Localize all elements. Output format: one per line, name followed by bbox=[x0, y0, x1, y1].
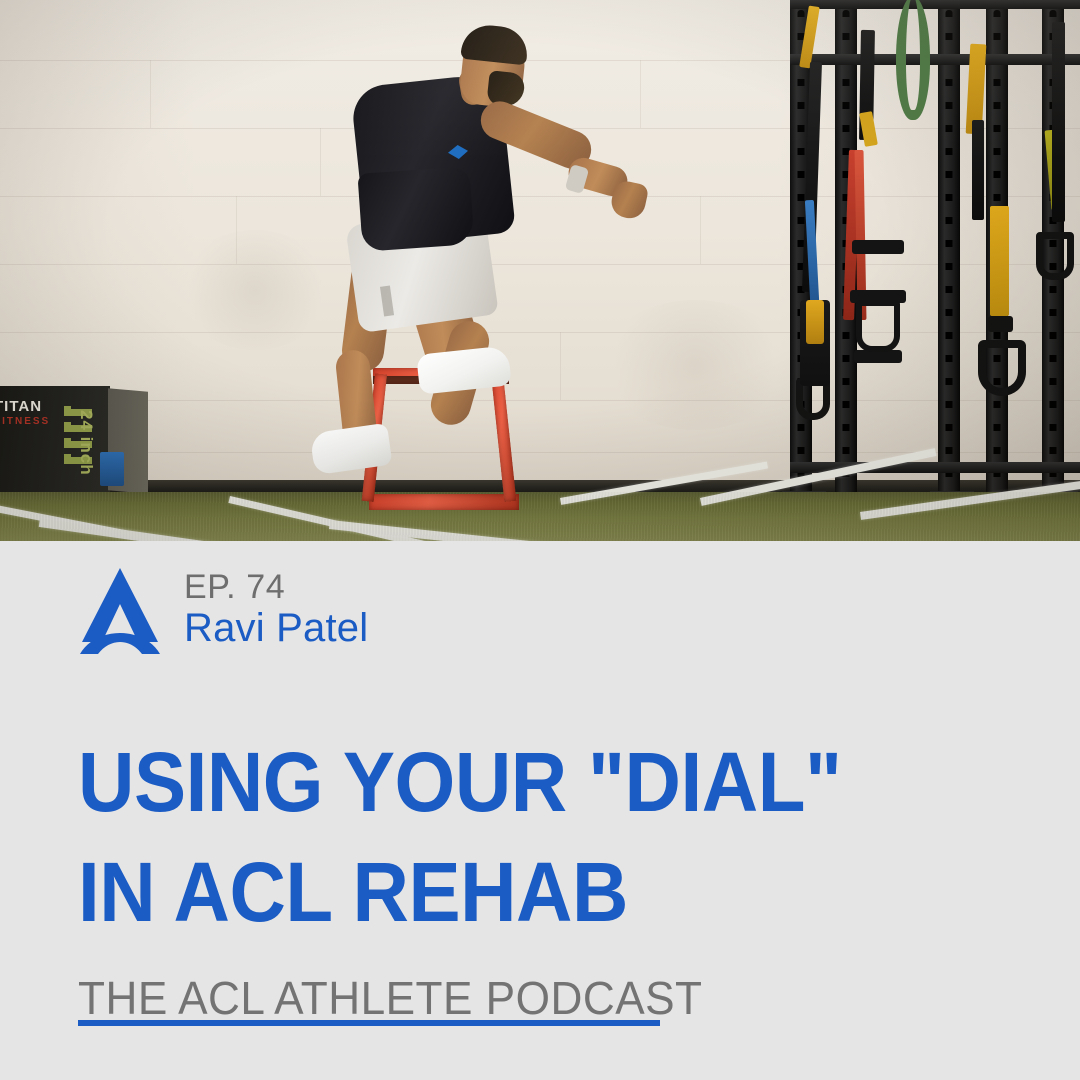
cover-photo: TITAN FITNESS 24 inch bbox=[0, 0, 1080, 541]
trx-handle bbox=[852, 240, 904, 254]
episode-number: EP. 74 bbox=[184, 564, 368, 605]
show-name: THE ACL ATHLETE PODCAST bbox=[78, 975, 703, 1021]
trx-handle bbox=[1036, 232, 1074, 280]
yard-line bbox=[39, 518, 337, 541]
squat-rig bbox=[790, 0, 1080, 500]
resistance-band-green bbox=[896, 0, 930, 120]
acl-athlete-logo-icon bbox=[78, 564, 162, 656]
athlete-rear-shoe bbox=[309, 423, 392, 475]
rig-crossbar bbox=[790, 54, 1080, 65]
podcast-cover: TITAN FITNESS 24 inch bbox=[0, 0, 1080, 1080]
blue-equipment-tag bbox=[100, 452, 124, 486]
resistance-band-yellow bbox=[806, 300, 824, 344]
titan-brand-text: TITAN bbox=[0, 398, 42, 415]
plyo-box-size-label: 24 inch bbox=[76, 410, 96, 476]
rig-upright bbox=[938, 0, 960, 500]
trx-strap bbox=[1052, 22, 1065, 222]
wall-mortar-line bbox=[700, 196, 701, 264]
trx-strap bbox=[972, 120, 984, 220]
trx-handle bbox=[978, 340, 1026, 396]
resistance-band-yellow bbox=[859, 111, 878, 147]
episode-text-block: EP. 74 Ravi Patel bbox=[184, 564, 368, 651]
trx-strap-yellow bbox=[990, 206, 1009, 316]
yard-line bbox=[329, 520, 628, 541]
titan-brand-sub: FITNESS bbox=[0, 416, 50, 427]
athlete-figure bbox=[300, 20, 660, 500]
guest-name: Ravi Patel bbox=[184, 607, 368, 650]
show-name-underline bbox=[78, 1020, 660, 1026]
episode-identity-row: EP. 74 Ravi Patel bbox=[78, 564, 368, 656]
athlete-hair bbox=[460, 23, 529, 66]
trx-buckle bbox=[988, 316, 1013, 332]
episode-title: USING YOUR "DIAL" IN ACL REHAB bbox=[78, 727, 915, 947]
athlete-front-shoe bbox=[416, 345, 512, 394]
yard-line bbox=[0, 498, 215, 541]
text-panel: EP. 74 Ravi Patel USING YOUR "DIAL" IN A… bbox=[0, 541, 1080, 1080]
titan-plyo-box: TITAN FITNESS 24 inch bbox=[0, 386, 110, 492]
trx-handle bbox=[856, 300, 900, 352]
rig-crossbar bbox=[790, 0, 1080, 9]
athlete-shirt-hem bbox=[357, 166, 474, 252]
wall-mortar-line bbox=[150, 60, 151, 128]
